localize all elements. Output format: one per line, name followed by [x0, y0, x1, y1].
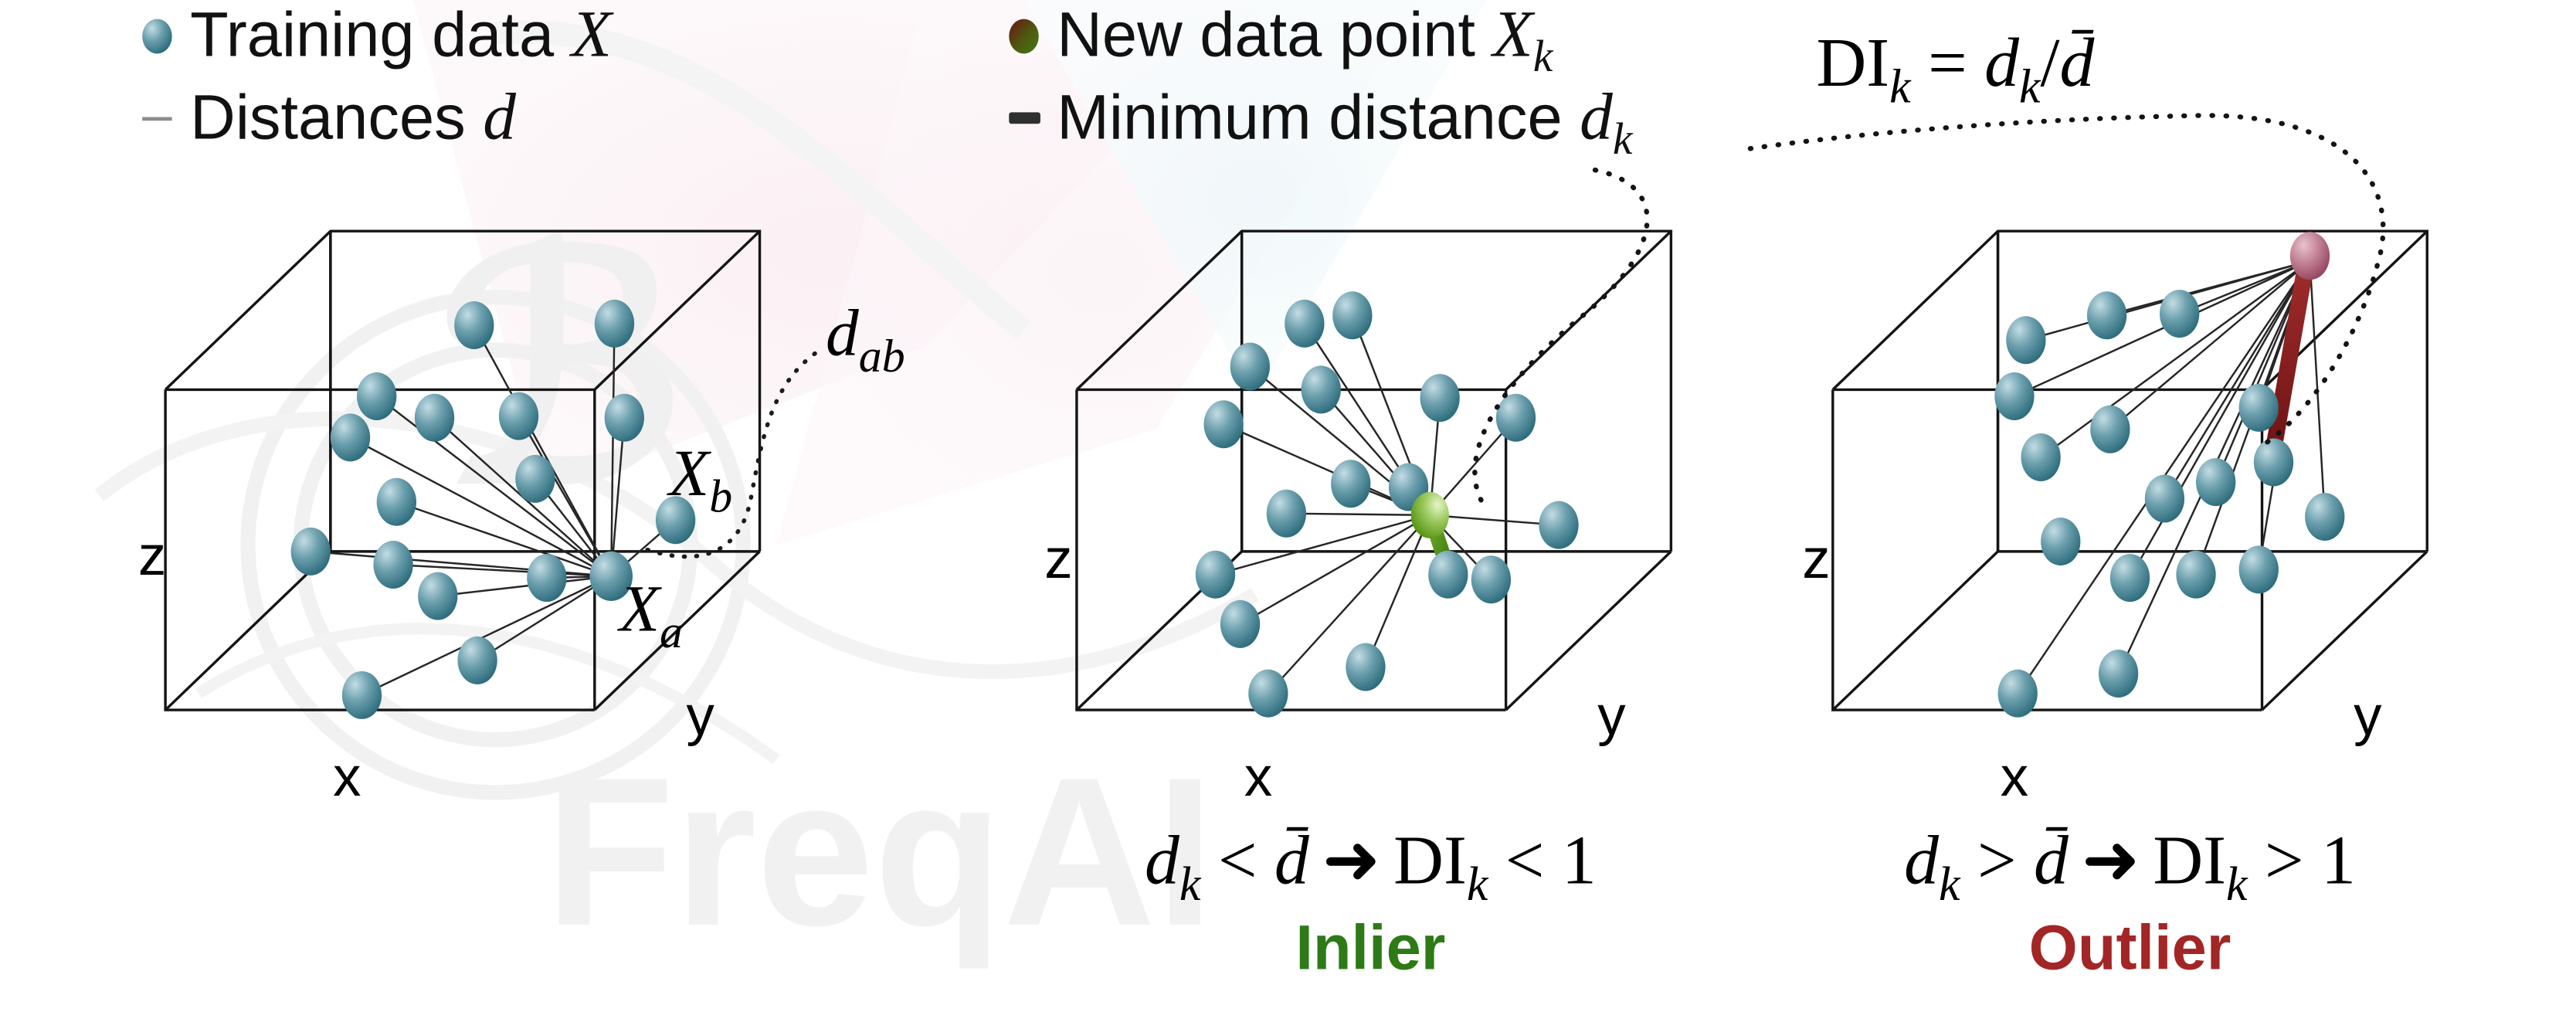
data-point	[1267, 490, 1306, 538]
axis-label-z-2: z	[1044, 528, 1072, 590]
caption-outlier: dk > d̄➜DIk > 1 Outlier	[1904, 822, 2356, 983]
legend-item-new-data-point: New data point Xk	[1009, 0, 1553, 81]
new-data-point-inlier	[1411, 492, 1449, 538]
formula-di-eq: =	[1911, 25, 1985, 101]
data-point	[2239, 545, 2279, 593]
data-point	[377, 478, 416, 526]
legend-label-distances: Distances d	[190, 81, 516, 154]
legend-label-new-point-math: X	[1491, 0, 1536, 71]
data-point	[415, 394, 454, 442]
legend-label-min-distance-sub: k	[1613, 115, 1634, 164]
svg-text:dk > d̄➜DIk > 1: dk > d̄➜DIk > 1	[1904, 822, 2356, 910]
di-diagram-svg: ℬ FreqAI Training data X Distances d New…	[0, 0, 2576, 1022]
data-point	[2145, 474, 2184, 522]
data-point	[1496, 394, 1536, 442]
line-black-thick-icon	[1009, 112, 1040, 124]
data-point	[457, 637, 497, 684]
legend-label-new-point: New data point Xk	[1057, 0, 1553, 81]
data-point	[595, 300, 634, 348]
data-point	[1332, 291, 1372, 339]
formula-di-num-sub: k	[2019, 61, 2041, 114]
data-point	[605, 394, 644, 442]
formula-di: DI	[1816, 25, 1889, 101]
data-point	[357, 372, 396, 420]
data-point	[1302, 365, 1341, 413]
diagram-root: ℬ FreqAI Training data X Distances d New…	[0, 0, 2576, 1022]
verdict-outlier: Outlier	[2029, 913, 2232, 983]
legend-item-minimum-distance: Minimum distance dk	[1009, 81, 1634, 164]
axis-label-x-3: x	[2001, 745, 2028, 808]
data-point	[2239, 384, 2279, 432]
data-point	[2041, 518, 2080, 565]
legend-label-new-point-text: New data point	[1057, 0, 1492, 70]
axis-label-x-1: x	[333, 745, 361, 808]
data-point-nearest	[2254, 438, 2293, 486]
data-point	[1420, 374, 1459, 422]
axis-label-y-1: y	[686, 684, 714, 747]
data-point	[373, 541, 412, 589]
data-point	[1471, 555, 1511, 603]
data-point	[2305, 493, 2344, 541]
formula-di-sub: k	[1889, 61, 1912, 114]
panel-outlier: z y x	[1802, 231, 2427, 808]
data-point-nearest	[1428, 551, 1468, 599]
legend-label-min-distance: Minimum distance dk	[1057, 81, 1634, 164]
data-point	[1285, 300, 1324, 348]
data-point	[499, 392, 538, 440]
data-point	[1998, 670, 2038, 718]
data-point	[1203, 400, 1243, 448]
data-point	[454, 301, 494, 349]
axis-label-y-3: y	[2354, 684, 2382, 747]
data-point	[2176, 551, 2215, 599]
legend-item-training-data: Training data X	[142, 0, 614, 71]
svg-text:ℬ: ℬ	[438, 195, 684, 546]
axis-label-z-1: z	[138, 525, 166, 587]
legend-label-training: Training data X	[190, 0, 614, 71]
formula-di-definition: DIk = dk/d̄	[1816, 25, 2095, 113]
label-xa: Xa	[617, 572, 683, 657]
data-point	[2090, 406, 2130, 453]
data-point	[1994, 372, 2034, 420]
data-point	[2160, 290, 2199, 338]
legend-label-training-math: X	[569, 0, 614, 71]
data-point	[418, 572, 457, 620]
connector-dotted-minimum-distance	[1475, 115, 2383, 508]
data-point	[331, 413, 370, 461]
formula-di-num: d	[1984, 25, 2020, 101]
data-point	[2110, 554, 2150, 602]
data-point	[1331, 460, 1370, 508]
data-point	[1248, 670, 1288, 718]
data-point	[2021, 433, 2060, 481]
data-point	[2006, 316, 2045, 364]
legend-label-distances-math: d	[483, 81, 516, 154]
axis-label-z-3: z	[1802, 528, 1830, 590]
data-point	[1196, 551, 1235, 599]
new-data-point-outlier	[2290, 232, 2330, 280]
watermark-text: FreqAI	[545, 733, 1214, 971]
data-point	[515, 455, 555, 503]
data-point	[2196, 458, 2235, 506]
data-point	[1220, 600, 1260, 648]
data-point	[2087, 291, 2126, 339]
legend-item-distances: Distances d	[142, 81, 516, 154]
formula-di-slash: /	[2041, 25, 2060, 101]
verdict-inlier: Inlier	[1295, 913, 1445, 983]
formula-di-den: d̄	[2059, 25, 2095, 101]
svg-text:DIk = dk/d̄: DIk = dk/d̄	[1816, 25, 2095, 113]
sphere-teal-icon	[142, 19, 171, 54]
data-point	[1539, 501, 1578, 549]
data-point	[2099, 650, 2138, 698]
legend-label-min-distance-text: Minimum distance	[1057, 83, 1580, 153]
sphere-red-green-icon	[1009, 19, 1038, 54]
data-point	[1346, 643, 1385, 691]
data-point	[527, 554, 566, 602]
legend-label-new-point-sub: k	[1533, 32, 1554, 81]
legend-label-training-text: Training data	[190, 0, 572, 70]
data-point	[342, 671, 382, 719]
axis-label-y-2: y	[1597, 684, 1626, 747]
data-point	[1230, 342, 1270, 390]
cube-wireframe-3	[1833, 231, 2427, 710]
legend-label-min-distance-math: d	[1580, 81, 1613, 154]
svg-text:dk < d̄➜DIk < 1: dk < d̄➜DIk < 1	[1145, 822, 1597, 910]
data-point	[291, 528, 331, 576]
legend-label-distances-text: Distances	[190, 83, 483, 153]
axis-label-x-2: x	[1244, 745, 1272, 808]
training-points-2	[1196, 291, 1579, 717]
